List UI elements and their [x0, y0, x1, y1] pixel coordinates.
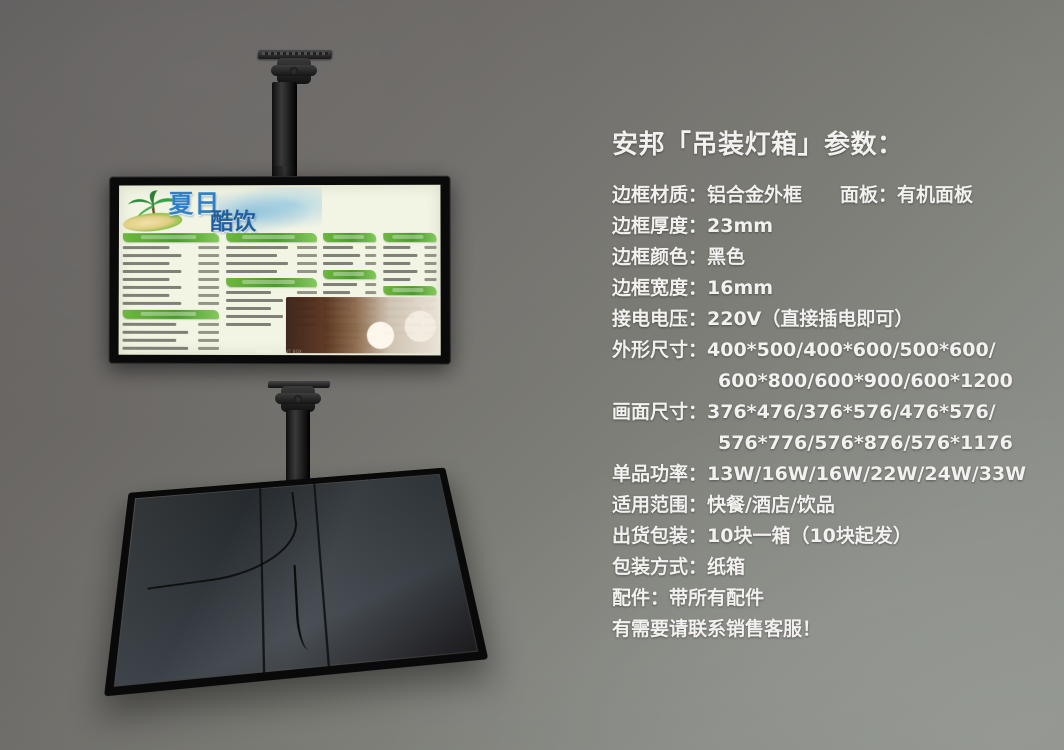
menu-item-name [123, 270, 182, 273]
menu-title-artwork: 夏日 酷饮 [123, 187, 318, 239]
menu-item-row [383, 260, 437, 266]
menu-item-row [323, 244, 377, 250]
menu-item-price [425, 253, 437, 256]
menu-item-row [123, 244, 220, 250]
menu-item-name [123, 285, 182, 288]
menu-section [383, 233, 437, 282]
spec-label-2: 边框颜色： [612, 246, 707, 268]
menu-item-price [297, 261, 317, 264]
menu-item-price [425, 261, 437, 264]
menu-section [226, 233, 317, 274]
spec-value-10: 快餐/酒店/饮品 [707, 494, 835, 516]
menu-item-price [198, 277, 219, 280]
menu-item-row [123, 353, 220, 356]
menu-item-price [198, 301, 219, 304]
menu-section [123, 233, 220, 306]
spec-value-6: 600*800/600*900/600*1200 [718, 370, 1013, 392]
spec-label-11: 出货包装： [612, 525, 707, 547]
menu-item-row [383, 252, 437, 258]
menu-item-row [123, 345, 220, 351]
menu-item-price [198, 322, 219, 325]
menu-item-row [383, 268, 437, 274]
menu-section-header [226, 233, 317, 242]
spec-label-5: 外形尺寸： [612, 339, 707, 361]
spec-value-3: 16mm [707, 277, 773, 299]
menu-item-name [226, 322, 271, 325]
spec-line-3: 边框宽度：16mm [612, 273, 1042, 304]
menu-section-header [383, 286, 437, 295]
menu-item-price [365, 245, 377, 248]
menu-item-row [123, 321, 220, 327]
menu-item-name [323, 291, 350, 294]
menu-item-name [226, 262, 289, 265]
spec-line-5: 外形尺寸：400*500/400*600/500*600/ [612, 335, 1042, 366]
menu-item-price [198, 270, 219, 273]
spec-value-0: 铝合金外框 面板：有机面板 [707, 184, 973, 206]
menu-item-price [198, 338, 219, 341]
menu-item-row [123, 284, 220, 290]
menu-item-name [123, 346, 189, 349]
menu-item-row [123, 329, 220, 335]
menu-item-name [226, 298, 283, 301]
menu-item-name [323, 253, 360, 256]
menu-item-price [198, 285, 219, 288]
menu-title-line2: 酷饮 [210, 211, 256, 234]
menu-item-name [123, 246, 169, 249]
menu-item-row [226, 244, 317, 250]
menu-section-header [323, 270, 377, 279]
spec-line-7: 画面尺寸：376*476/376*576/476*576/ [612, 397, 1042, 428]
spec-line-2: 边框颜色：黑色 [612, 242, 1042, 273]
menu-item-name [383, 278, 411, 281]
spec-line-8: 576*776/576*876/576*1176 [612, 428, 1042, 459]
menu-section [323, 233, 377, 266]
pivot-joint-lower-icon [281, 386, 315, 412]
menu-item-name [123, 354, 176, 355]
menu-item-row [323, 252, 377, 258]
menu-item-name [226, 270, 277, 273]
spec-value-11: 10块一箱（10块起发） [707, 525, 912, 547]
menu-item-name [123, 338, 176, 341]
menu-item-name [383, 261, 411, 264]
spec-line-6: 600*800/600*900/600*1200 [612, 366, 1042, 397]
menu-item-name [123, 330, 189, 333]
menu-item-name [383, 269, 418, 272]
menu-item-row [383, 244, 437, 250]
menu-item-row [226, 260, 317, 266]
spec-label-1: 边框厚度： [612, 215, 707, 237]
menu-item-row [383, 276, 437, 282]
menu-item-row [123, 268, 220, 274]
spec-value-1: 23mm [707, 215, 773, 237]
menu-section [122, 310, 219, 356]
menu-item-name [123, 301, 182, 304]
menu-section-header [383, 233, 437, 242]
menu-item-row [323, 289, 377, 295]
menu-item-price [198, 262, 219, 265]
menu-item-price [425, 278, 437, 281]
menu-item-name [123, 254, 182, 257]
spec-label-13: 配件： [612, 587, 669, 609]
menu-item-name [226, 314, 283, 317]
spec-line-10: 适用范围：快餐/酒店/饮品 [612, 490, 1042, 521]
product-assembly: 夏日 酷饮 ANBANG LIGHT BOX [0, 0, 600, 750]
spec-label-3: 边框宽度： [612, 277, 707, 299]
spec-label-0: 边框材质： [612, 184, 707, 206]
spec-value-8: 576*776/576*876/576*1176 [718, 432, 1013, 454]
menu-item-row [123, 252, 220, 258]
menu-item-row [123, 292, 220, 298]
spec-line-1: 边框厚度：23mm [612, 211, 1042, 242]
menu-item-price [365, 261, 377, 264]
light-box-rear [104, 468, 488, 697]
spec-title: 安邦「吊装灯箱」参数： [612, 124, 1042, 161]
menu-item-row [323, 281, 377, 287]
menu-item-name [383, 253, 418, 256]
menu-item-price [198, 293, 219, 296]
menu-section-header [123, 233, 220, 242]
spec-label-4: 接电电压： [612, 308, 707, 330]
coffee-photo [286, 297, 439, 353]
menu-item-price [297, 245, 317, 248]
spec-label-9: 单品功率： [612, 463, 707, 485]
spec-label-7: 画面尺寸： [612, 401, 707, 423]
spec-label-10: 适用范围： [612, 494, 707, 516]
menu-item-price [425, 269, 437, 272]
menu-item-price [365, 253, 377, 256]
spec-line-list: 边框材质：铝合金外框 面板：有机面板边框厚度：23mm边框颜色：黑色边框宽度：1… [612, 180, 1042, 645]
spec-line-0: 边框材质：铝合金外框 面板：有机面板 [612, 180, 1042, 211]
menu-item-name [123, 322, 176, 325]
menu-section-header [123, 310, 220, 319]
spec-label-12: 包装方式： [612, 556, 707, 578]
menu-item-price [198, 246, 219, 249]
menu-item-price [297, 291, 317, 294]
pivot-joint-upper-icon [277, 58, 311, 84]
menu-item-row [123, 260, 220, 266]
menu-item-price [425, 245, 437, 248]
light-box-front: 夏日 酷饮 ANBANG LIGHT BOX [109, 176, 451, 365]
spec-value-9: 13W/16W/16W/22W/24W/33W [707, 463, 1026, 485]
spec-value-14: 有需要请联系销售客服！ [612, 618, 821, 640]
menu-item-name [323, 261, 353, 264]
menu-item-price [297, 253, 317, 256]
menu-item-row [226, 268, 317, 274]
product-photo-canvas: 夏日 酷饮 ANBANG LIGHT BOX [0, 0, 1064, 750]
menu-item-price [198, 354, 219, 355]
spec-line-11: 出货包装：10块一箱（10块起发） [612, 521, 1042, 552]
menu-item-name [226, 246, 289, 249]
menu-item-row [123, 300, 220, 306]
spec-line-12: 包装方式：纸箱 [612, 552, 1042, 583]
menu-item-name [323, 283, 357, 286]
menu-item-name [323, 245, 353, 248]
spec-line-9: 单品功率：13W/16W/16W/22W/24W/33W [612, 459, 1042, 490]
spec-line-13: 配件：带所有配件 [612, 583, 1042, 614]
menu-item-name [226, 254, 277, 257]
menu-item-name [123, 277, 169, 280]
spec-value-13: 带所有配件 [669, 587, 764, 609]
menu-footer-logo: ANBANG LIGHT BOX [256, 349, 303, 354]
specification-block: 安邦「吊装灯箱」参数： 边框材质：铝合金外框 面板：有机面板边框厚度：23mm边… [612, 124, 1042, 645]
menu-column-1 [122, 233, 219, 355]
menu-item-row [123, 337, 220, 343]
menu-item-name [123, 262, 169, 265]
menu-item-name [226, 290, 271, 293]
menu-item-price [198, 346, 219, 349]
menu-item-row [226, 252, 317, 258]
menu-item-price [297, 269, 317, 272]
spec-line-4: 接电电压：220V（直接插电即可） [612, 304, 1042, 335]
menu-item-name [226, 306, 271, 309]
spec-value-5: 400*500/400*600/500*600/ [707, 339, 996, 361]
menu-item-price [365, 283, 377, 286]
menu-section-header [323, 233, 377, 242]
menu-item-price [198, 254, 219, 257]
spec-value-12: 纸箱 [707, 556, 745, 578]
menu-item-row [323, 260, 377, 266]
menu-artwork: 夏日 酷饮 ANBANG LIGHT BOX [119, 185, 441, 356]
menu-item-row [226, 289, 317, 295]
menu-item-row [123, 276, 220, 282]
spec-value-2: 黑色 [707, 246, 745, 268]
menu-item-name [383, 245, 411, 248]
spec-line-14: 有需要请联系销售客服！ [612, 614, 1042, 645]
menu-item-price [365, 291, 377, 294]
spec-value-7: 376*476/376*576/476*576/ [707, 401, 996, 423]
menu-section-header [226, 278, 317, 287]
spec-value-4: 220V（直接插电即可） [707, 308, 913, 330]
menu-item-name [123, 293, 169, 296]
menu-item-price [198, 330, 219, 333]
